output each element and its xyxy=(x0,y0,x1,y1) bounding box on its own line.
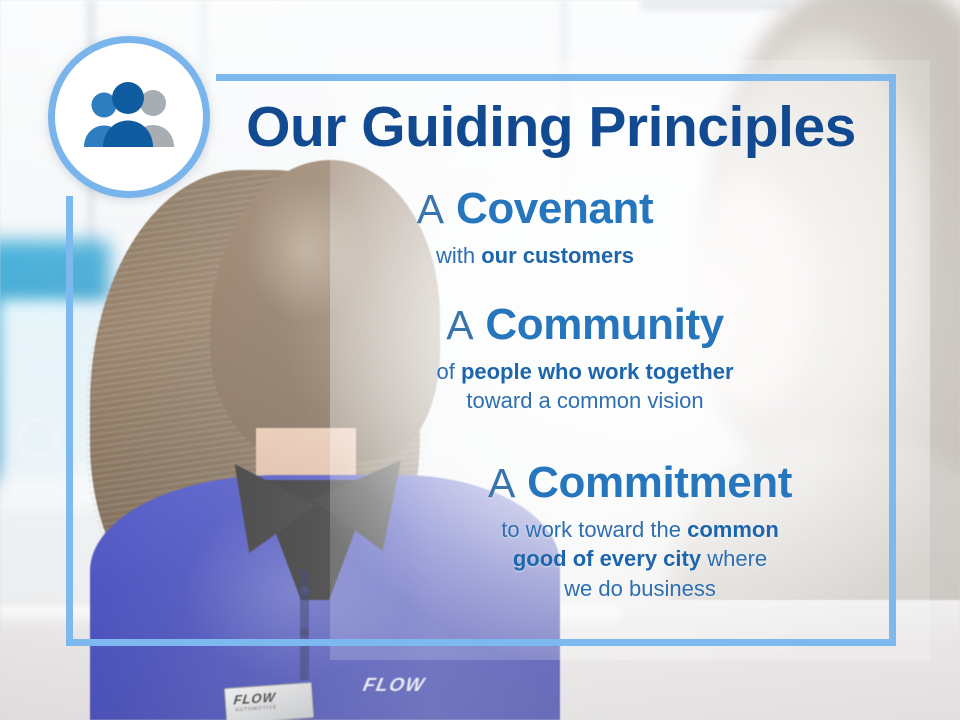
principle-subtext: of people who work togethertoward a comm… xyxy=(350,357,820,416)
shirt-brand-logo-text: FLOW xyxy=(361,675,446,697)
subtext-run: we do business xyxy=(564,576,716,601)
shirt-brand-logo: FLOW xyxy=(360,675,445,699)
principle-lead: A xyxy=(488,460,515,506)
principle-covenant: A Covenant with our customers xyxy=(300,186,770,270)
principle-subtext: to work toward the commongood of every c… xyxy=(400,515,880,603)
subtext-run: toward a common vision xyxy=(466,388,703,413)
shirt-button xyxy=(300,586,309,595)
guiding-principles-poster: FLOW FLOW AUTOMOTIVE xyxy=(0,0,960,720)
people-group-icon xyxy=(77,81,181,153)
principle-lead: A xyxy=(446,302,473,348)
principle-headline: A Covenant xyxy=(300,186,770,233)
principle-lead: A xyxy=(417,186,444,232)
principle-headline: A Commitment xyxy=(400,460,880,507)
subtext-run: of xyxy=(436,359,460,384)
people-badge xyxy=(48,36,210,198)
subtext-run: to work toward the xyxy=(501,517,687,542)
page-title: Our Guiding Principles xyxy=(215,98,887,157)
principle-keyword: Covenant xyxy=(456,184,653,233)
subtext-emphasis: good of every city xyxy=(513,546,701,571)
subtext-emphasis: our customers xyxy=(481,243,634,268)
employee-name-badge: FLOW AUTOMOTIVE xyxy=(224,682,314,720)
principle-headline: A Community xyxy=(350,302,820,349)
window-mullion xyxy=(640,0,790,10)
principle-keyword: Community xyxy=(485,300,723,349)
principle-keyword: Commitment xyxy=(527,458,792,507)
subtext-run: with xyxy=(436,243,481,268)
subtext-emphasis: common xyxy=(687,517,779,542)
shirt-button xyxy=(300,628,309,637)
principle-subtext: with our customers xyxy=(300,241,770,270)
subtext-emphasis: people who work together xyxy=(461,359,734,384)
principle-commitment: A Commitment to work toward the commongo… xyxy=(400,460,880,603)
principle-community: A Community of people who work togethert… xyxy=(350,302,820,416)
subtext-run: where xyxy=(701,546,767,571)
